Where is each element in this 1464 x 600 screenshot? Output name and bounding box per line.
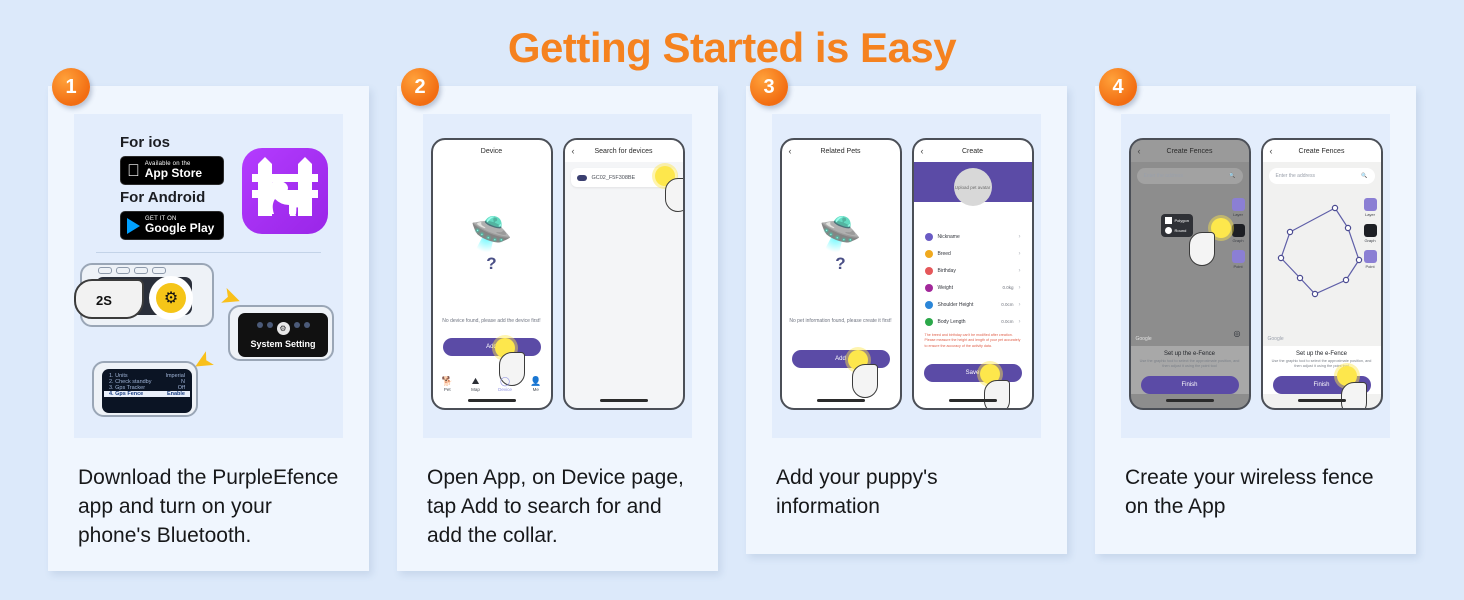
address-placeholder: Enter the address bbox=[1276, 173, 1315, 179]
phone-header: ‹ Create Fences bbox=[1263, 140, 1381, 162]
phone-header: ‹ Related Pets bbox=[782, 140, 900, 162]
collar-device-menu: 1. UnitsImperial 2. Check standbyN 3. Gp… bbox=[92, 361, 198, 417]
related-pets-title: Related Pets bbox=[820, 148, 860, 155]
tab-me[interactable]: 👤Me bbox=[530, 376, 541, 392]
step-card-3: 3 ‹ Related Pets 🛸 ? No pet information … bbox=[746, 86, 1067, 554]
home-indicator bbox=[949, 399, 997, 402]
back-chevron-icon[interactable]: ‹ bbox=[921, 146, 924, 156]
step-number-badge-1: 1 bbox=[52, 68, 90, 106]
collar-setup-illustration: 2S ⚙ ➤ ⚙ System Setting ➤ bbox=[74, 257, 343, 429]
ufo-icon: 🛸 bbox=[433, 214, 551, 254]
system-setting-title: System Setting bbox=[250, 339, 315, 349]
tab-map[interactable]: ⛰Map bbox=[471, 376, 480, 392]
breed-icon bbox=[925, 250, 933, 258]
phone-create-fences-tools: ‹ Create Fences Enter the address 🔍 Laye… bbox=[1129, 138, 1251, 410]
shape-options-popup[interactable]: Polygon Round bbox=[1161, 214, 1193, 237]
map-watermark: Google bbox=[1268, 336, 1284, 342]
ufo-icon: 🛸 bbox=[782, 214, 900, 254]
back-chevron-icon[interactable]: ‹ bbox=[1270, 146, 1273, 156]
fence-dogs-icon bbox=[242, 148, 328, 234]
tab-device[interactable]: ◯Device bbox=[498, 376, 512, 392]
gear-icon: ⚙ bbox=[156, 283, 186, 313]
map-pin-icon: ⛰ bbox=[471, 376, 480, 387]
pet-empty-text: No pet information found, please create … bbox=[782, 318, 900, 324]
address-search-input[interactable]: Enter the address 🔍 bbox=[1269, 168, 1375, 184]
body-length-icon bbox=[925, 318, 933, 326]
form-row-weight[interactable]: Weight 0.0kg › bbox=[918, 279, 1028, 296]
section-divider bbox=[96, 252, 321, 253]
address-search-input[interactable]: Enter the address 🔍 bbox=[1137, 168, 1243, 184]
form-row-nickname[interactable]: Nickname › bbox=[918, 228, 1028, 245]
system-setting-screen: ⚙ System Setting bbox=[238, 313, 328, 357]
shoulder-height-icon bbox=[925, 301, 933, 309]
hand-pointer-4 bbox=[852, 364, 878, 398]
search-icon[interactable]: 🔍 bbox=[1229, 173, 1235, 179]
form-row-birthday[interactable]: Birthday › bbox=[918, 262, 1028, 279]
fence-tool-rail[interactable]: Layer Graph Point bbox=[1232, 198, 1245, 269]
menu-row-gps-fence: 4. Gps FenceEnable bbox=[104, 391, 190, 397]
bottom-tabbar[interactable]: 🐕Pet ⛰Map ◯Device 👤Me bbox=[433, 376, 551, 392]
fence-polygon-graphic[interactable] bbox=[1263, 200, 1383, 320]
ios-label: For ios bbox=[120, 134, 242, 151]
steps-container: 1 For ios  Available on the App Store F… bbox=[0, 72, 1464, 571]
google-play-line2: Google Play bbox=[145, 222, 214, 234]
map-watermark: Google bbox=[1136, 336, 1152, 342]
step-card-4: 4 ‹ Create Fences Enter the address 🔍 La… bbox=[1095, 86, 1416, 554]
home-indicator bbox=[1166, 399, 1214, 402]
weight-icon bbox=[925, 284, 933, 292]
bluetooth-device-icon bbox=[577, 175, 587, 181]
device-empty-text: No device found, please add the device f… bbox=[433, 318, 551, 324]
gps-fence-menu-screen: 1. UnitsImperial 2. Check standbyN 3. Gp… bbox=[102, 369, 192, 413]
create-pet-title: Create bbox=[962, 148, 983, 155]
option-polygon[interactable]: Polygon bbox=[1165, 217, 1189, 224]
option-round[interactable]: Round bbox=[1165, 227, 1189, 234]
circle-icon bbox=[1165, 227, 1172, 234]
pet-icon: 🐕 bbox=[442, 376, 453, 387]
step-number-badge-2: 2 bbox=[401, 68, 439, 106]
collar-device-system-setting: ⚙ System Setting bbox=[228, 305, 334, 361]
chevron-right-icon: › bbox=[1019, 234, 1021, 240]
step-card-1: 1 For ios  Available on the App Store F… bbox=[48, 86, 369, 571]
person-icon: 👤 bbox=[530, 376, 541, 387]
graph-icon bbox=[1232, 224, 1245, 237]
settings-button-highlight[interactable]: ⚙ bbox=[152, 279, 190, 317]
back-chevron-icon[interactable]: ‹ bbox=[1138, 146, 1141, 156]
app-store-line2: App Store bbox=[145, 167, 202, 179]
google-play-badge[interactable]: GET IT ON Google Play bbox=[120, 211, 224, 240]
home-indicator bbox=[1298, 399, 1346, 402]
add-device-button[interactable]: Add bbox=[443, 338, 541, 356]
chevron-right-icon: › bbox=[1019, 319, 1021, 325]
hand-pointer-7 bbox=[1341, 382, 1367, 410]
empty-state-illustration: 🛸 ? bbox=[782, 162, 900, 274]
home-indicator bbox=[600, 399, 648, 402]
form-row-body-length[interactable]: Body Length 0.0cm › bbox=[918, 313, 1028, 330]
hand-pointer-5 bbox=[984, 380, 1010, 410]
back-chevron-icon[interactable]: ‹ bbox=[789, 146, 792, 156]
create-fences-title: Create Fences bbox=[1167, 148, 1213, 155]
hand-pointer-6 bbox=[1189, 232, 1215, 266]
step-art-1: For ios  Available on the App Store For… bbox=[74, 114, 343, 438]
apple-icon:  bbox=[127, 162, 140, 179]
empty-state-illustration: 🛸 ? bbox=[433, 162, 551, 274]
birthday-icon bbox=[925, 267, 933, 275]
step-art-4: ‹ Create Fences Enter the address 🔍 Laye… bbox=[1121, 114, 1390, 438]
search-devices-title: Search for devices bbox=[595, 148, 653, 155]
google-play-icon bbox=[127, 218, 140, 234]
page-title: Getting Started is Easy bbox=[0, 0, 1464, 72]
step-art-2: Device 🛸 ? No device found, please add t… bbox=[423, 114, 692, 438]
efence-footer-sub: Use the graphic tool to select the appro… bbox=[1263, 357, 1381, 372]
step-number-badge-4: 4 bbox=[1099, 68, 1137, 106]
efence-footer-sub: Use the graphic tool to select the appro… bbox=[1131, 357, 1249, 372]
app-store-badge[interactable]:  Available on the App Store bbox=[120, 156, 224, 185]
hand-pointer-3 bbox=[665, 178, 685, 212]
chevron-right-icon: › bbox=[1019, 285, 1021, 291]
phone-header: Device bbox=[433, 140, 551, 162]
device-page-title: Device bbox=[481, 148, 502, 155]
device-id-label: GC02_F5F308BE bbox=[592, 175, 636, 181]
question-mark-icon: ? bbox=[433, 254, 551, 274]
device-icon: ◯ bbox=[498, 376, 512, 387]
step-caption-3: Add your puppy's information bbox=[746, 438, 1067, 542]
android-label: For Android bbox=[120, 189, 242, 206]
tab-pet[interactable]: 🐕Pet bbox=[442, 376, 453, 392]
form-row-shoulder-height[interactable]: Shoulder Height 0.0cm › bbox=[918, 296, 1028, 313]
efence-footer: Set up the e-Fence Use the graphic tool … bbox=[1131, 346, 1249, 394]
tool-layer[interactable]: Layer bbox=[1232, 198, 1245, 217]
step-caption-1: Download the PurpleEfence app and turn o… bbox=[48, 438, 369, 571]
address-placeholder: Enter the address bbox=[1144, 173, 1183, 179]
home-indicator bbox=[468, 399, 516, 402]
tool-point[interactable]: Point bbox=[1232, 250, 1245, 269]
chevron-right-icon: › bbox=[1019, 268, 1021, 274]
chevron-right-icon: › bbox=[1019, 302, 1021, 308]
point-icon bbox=[1232, 250, 1245, 263]
locate-me-icon[interactable]: ◎ bbox=[1234, 329, 1241, 338]
phone-header: ‹ Create Fences bbox=[1131, 140, 1249, 162]
step-caption-4: Create your wireless fence on the App bbox=[1095, 438, 1416, 542]
square-icon bbox=[1165, 217, 1172, 224]
search-icon[interactable]: 🔍 bbox=[1361, 173, 1367, 179]
step-card-2: 2 Device 🛸 ? No device found, please add… bbox=[397, 86, 718, 571]
tool-graph[interactable]: Graph bbox=[1232, 224, 1245, 243]
nickname-icon bbox=[925, 233, 933, 241]
step-number-badge-3: 3 bbox=[750, 68, 788, 106]
settings-dots: ⚙ bbox=[257, 322, 310, 335]
purpleefence-app-icon bbox=[242, 148, 328, 234]
step-caption-2: Open App, on Device page, tap Add to sea… bbox=[397, 438, 718, 571]
question-mark-icon: ? bbox=[782, 254, 900, 274]
pet-form: Nickname › Breed › Birthday › bbox=[918, 202, 1028, 352]
hold-duration-label: 2S bbox=[96, 293, 112, 308]
phone-search-devices: ‹ Search for devices GC02_F5F308BE bbox=[563, 138, 685, 410]
form-row-breed[interactable]: Breed › bbox=[918, 245, 1028, 262]
back-chevron-icon[interactable]: ‹ bbox=[572, 146, 575, 156]
pet-form-note: The breed and birthday can't be modified… bbox=[918, 330, 1028, 352]
layer-icon bbox=[1232, 198, 1245, 211]
phone-related-pets: ‹ Related Pets 🛸 ? No pet information fo… bbox=[780, 138, 902, 410]
phone-create-pet: ‹ Create Upload pet avatar Nickname › bbox=[912, 138, 1034, 410]
phone-header: ‹ Search for devices bbox=[565, 140, 683, 162]
chevron-right-icon: › bbox=[1019, 251, 1021, 257]
finish-button[interactable]: Finish bbox=[1141, 376, 1239, 394]
phone-header: ‹ Create bbox=[914, 140, 1032, 162]
home-indicator bbox=[817, 399, 865, 402]
upload-pet-avatar-button[interactable]: Upload pet avatar bbox=[954, 168, 992, 206]
phone-device-page: Device 🛸 ? No device found, please add t… bbox=[431, 138, 553, 410]
step-art-3: ‹ Related Pets 🛸 ? No pet information fo… bbox=[772, 114, 1041, 438]
phone-create-fences-polygon: ‹ Create Fences Enter the address 🔍 Laye… bbox=[1261, 138, 1383, 410]
create-fences-title: Create Fences bbox=[1299, 148, 1345, 155]
